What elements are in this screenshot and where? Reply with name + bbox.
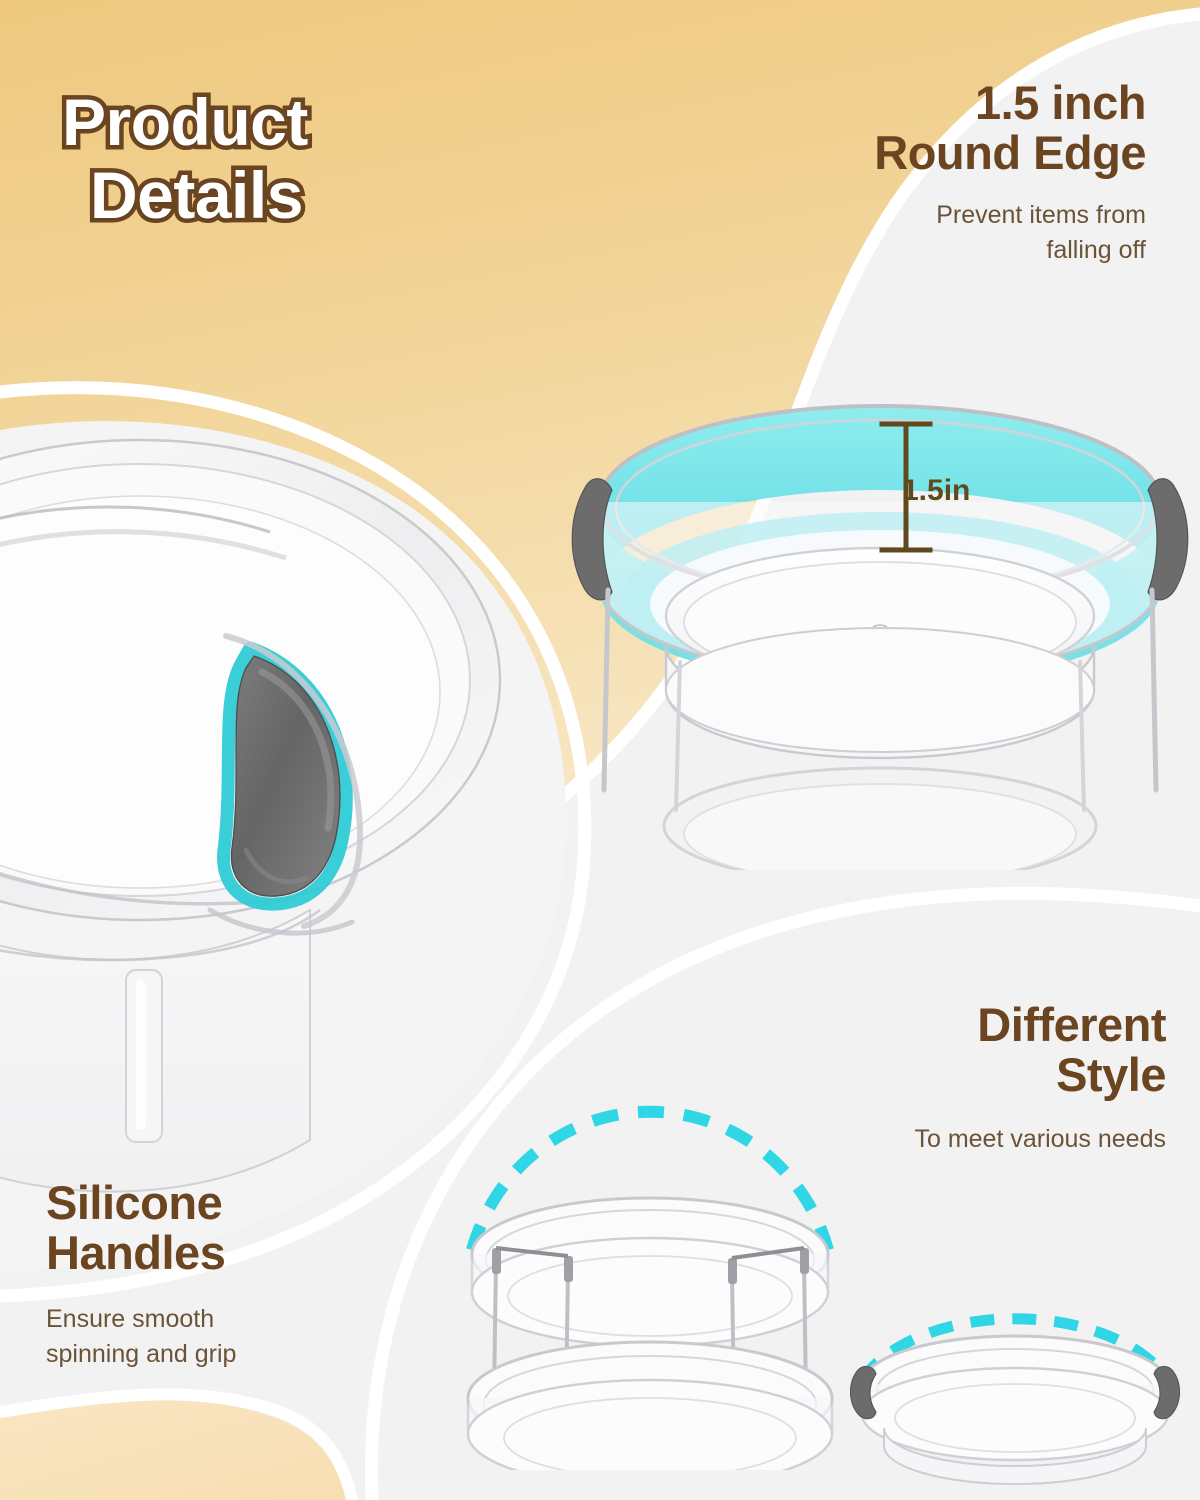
feature-different-style-title-line1: Different	[766, 1000, 1166, 1050]
feature-silicone-handles-title: Silicone Handles	[46, 1178, 466, 1278]
feature-different-style-subtitle: To meet various needs	[766, 1122, 1166, 1158]
feature-round-edge-sub-line1: Prevent items from	[726, 198, 1146, 234]
feature-silicone-handles-title-line1: Silicone	[46, 1178, 466, 1228]
feature-different-style-sub-line1: To meet various needs	[766, 1122, 1166, 1158]
page-title-line1: Product	[62, 85, 308, 159]
feature-silicone-handles-sub-line2: spinning and grip	[46, 1337, 466, 1373]
dimension-callout-1-5in: 1.5in	[876, 418, 996, 558]
feature-different-style-title-line2: Style	[766, 1050, 1166, 1100]
page-title: Product Details	[62, 86, 308, 231]
feature-different-style: Different Style To meet various needs	[766, 1000, 1166, 1157]
page-title-line2: Details	[90, 159, 308, 232]
feature-round-edge-subtitle: Prevent items from falling off	[726, 198, 1146, 269]
one-tier-turntable-illustration	[840, 1270, 1190, 1485]
feature-different-style-title: Different Style	[766, 1000, 1166, 1100]
feature-silicone-handles-subtitle: Ensure smooth spinning and grip	[46, 1302, 466, 1373]
feature-silicone-handles: Silicone Handles Ensure smooth spinning …	[46, 1178, 466, 1373]
infographic-canvas: 1.5in	[0, 0, 1200, 1500]
feature-round-edge-title-line1: 1.5 inch	[726, 78, 1146, 128]
feature-round-edge: 1.5 inch Round Edge Prevent items from f…	[726, 78, 1146, 269]
feature-silicone-handles-title-line2: Handles	[46, 1228, 466, 1278]
dimension-label: 1.5in	[902, 474, 970, 508]
feature-round-edge-title-line2: Round Edge	[726, 128, 1146, 178]
feature-silicone-handles-sub-line1: Ensure smooth	[46, 1302, 466, 1338]
feature-round-edge-sub-line2: falling off	[726, 233, 1146, 269]
feature-round-edge-title: 1.5 inch Round Edge	[726, 78, 1146, 178]
